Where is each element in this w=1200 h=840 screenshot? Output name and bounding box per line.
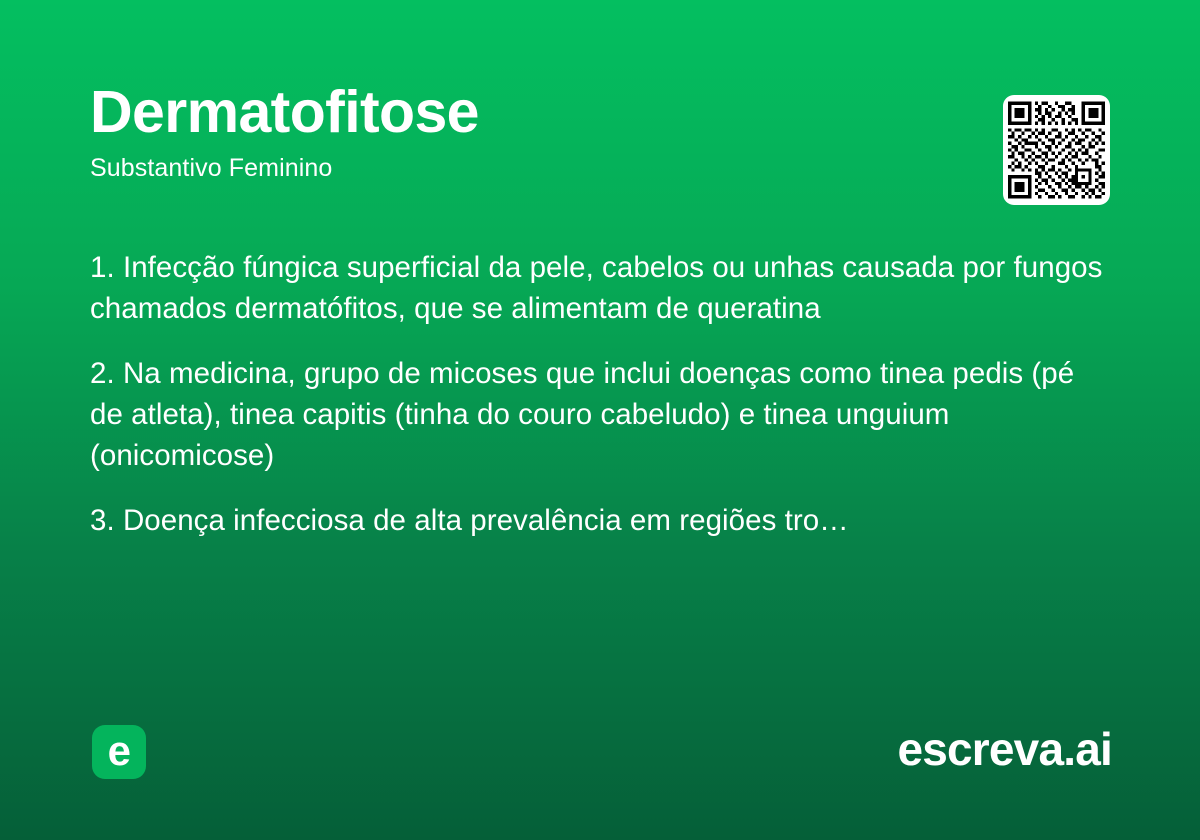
qr-code-panel[interactable]: [1003, 95, 1110, 205]
qr-code-icon: [1008, 101, 1105, 199]
definition-item: 2. Na medicina, grupo de micoses que inc…: [90, 353, 1105, 476]
brand-wordmark: escreva.ai: [897, 722, 1112, 777]
definition-item: 1. Infecção fúngica superficial da pele,…: [90, 247, 1105, 329]
brand-logo-mark: e: [92, 725, 146, 779]
word-class-label: Substantivo Feminino: [90, 155, 1110, 183]
card-header: Dermatofitose Substantivo Feminino: [90, 82, 1110, 183]
page-title: Dermatofitose: [90, 82, 1110, 143]
definition-item: 3. Doença infecciosa de alta prevalência…: [90, 500, 1105, 541]
dictionary-card: Dermatofitose Substantivo Feminino: [0, 0, 1200, 840]
definition-list: 1. Infecção fúngica superficial da pele,…: [90, 247, 1105, 541]
brand-logo-letter: e: [108, 730, 131, 772]
